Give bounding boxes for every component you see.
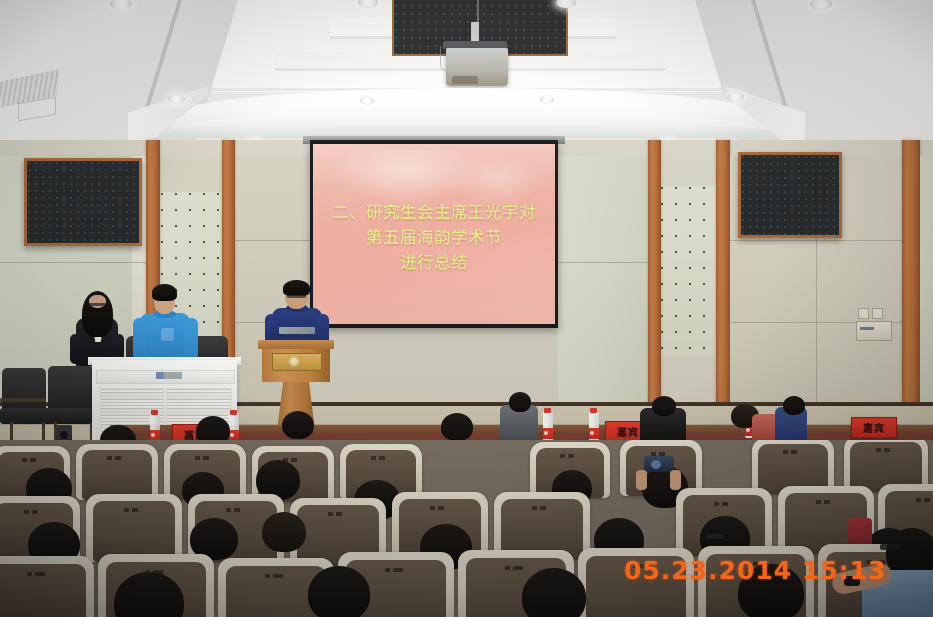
slide-line-2: 第五届海韵学术节 [313, 225, 555, 250]
guest-placard: 嘉宾 [851, 417, 897, 438]
wall-framed-sign [856, 321, 892, 341]
slide-line-1: 二、研究生会主席王光宇对 [313, 200, 555, 225]
black-chair-arm [0, 398, 46, 402]
audience-head [282, 411, 314, 439]
camera-timestamp: 05.23.2014 15:13 [624, 556, 886, 585]
acoustic-perforated-panel-right [660, 186, 716, 356]
hair [152, 284, 177, 301]
audience-head [652, 396, 676, 416]
wall-switch[interactable] [858, 308, 869, 319]
audience-head [509, 392, 531, 412]
projection-screen: 二、研究生会主席王光宇对 第五届海韵学术节 进行总结 [310, 140, 558, 328]
hand [636, 470, 647, 490]
tshirt-print [279, 327, 315, 334]
podium-top [258, 340, 334, 349]
glasses [706, 534, 724, 539]
wall-switch[interactable] [872, 308, 883, 319]
black-chair [48, 366, 94, 412]
downlight [727, 92, 744, 102]
glasses [287, 295, 306, 298]
audience-head [308, 566, 370, 617]
tshirt-pocket [161, 328, 174, 341]
wood-pilaster [648, 140, 661, 408]
glasses [880, 544, 902, 550]
downlight [168, 94, 185, 104]
wall-speaker-left [24, 158, 142, 246]
seat [0, 556, 94, 617]
wood-pilaster [902, 140, 920, 408]
audience-head [783, 396, 805, 415]
seat [76, 444, 158, 500]
glasses [89, 303, 106, 306]
seat [86, 494, 182, 562]
head-table-logo [156, 372, 182, 379]
hair [283, 280, 310, 296]
downlight [540, 95, 554, 104]
slide-line-3: 进行总结 [313, 250, 555, 275]
audience-head [441, 413, 473, 441]
hand [670, 470, 681, 490]
audience-head [522, 568, 586, 617]
wall-speaker-right [738, 152, 842, 238]
podium-seal-icon [288, 355, 300, 367]
black-chair [2, 368, 46, 412]
wood-pilaster [716, 140, 730, 408]
conference-hall-photograph: 二、研究生会主席王光宇对 第五届海韵学术节 进行总结 [0, 0, 933, 617]
audience-seating [0, 440, 933, 617]
downlight [360, 96, 374, 105]
projector-lens [452, 76, 478, 84]
ceiling [0, 0, 933, 150]
audience-head [262, 512, 306, 552]
